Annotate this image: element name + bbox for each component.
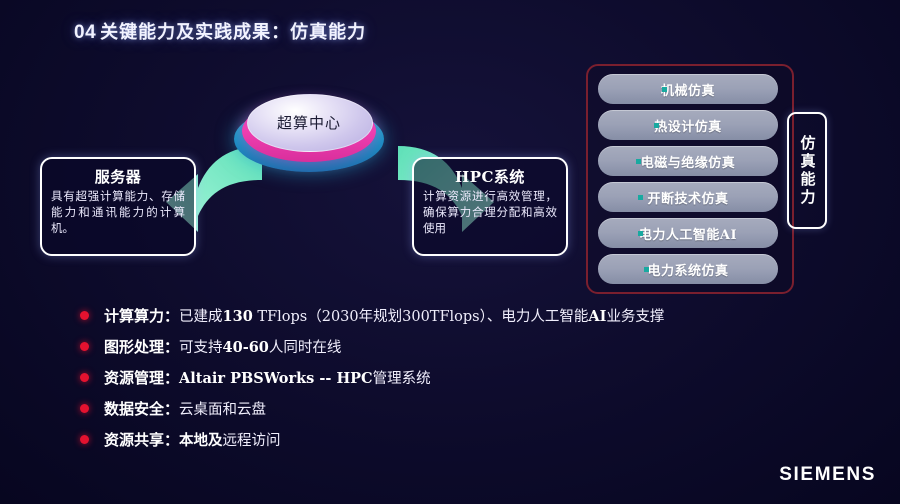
supercomputing-center-disc: 超算中心 <box>234 92 384 178</box>
siemens-logo: SIEMENS <box>779 464 876 486</box>
slide-canvas: 04关键能力及实践成果：仿真能力 超算中心 服务器 具有超强计算能力、存储能力和… <box>0 0 900 504</box>
simulation-capability-label-box: 仿真能力 <box>787 112 827 229</box>
key-point-text: 资源共享：本地及远程访问 <box>104 429 281 450</box>
key-point-label: 资源管理： <box>104 369 179 387</box>
key-point-row: 资源管理：Altair PBSWorks -- HPC管理系统 <box>80 362 840 393</box>
key-point-row: 数据安全：云桌面和云盘 <box>80 393 840 424</box>
key-point-row: 计算算力：已建成130 TFlops（2030年规划300TFlops）、电力人… <box>80 300 840 331</box>
key-point-segment: 130 <box>223 308 253 325</box>
key-point-segment: 业务支撑 <box>606 309 664 325</box>
capability-pill-label: 开断技术仿真 <box>647 188 728 207</box>
bullet-dot-icon <box>80 435 89 444</box>
key-point-segment: AI <box>588 308 606 325</box>
key-points-list: 计算算力：已建成130 TFlops（2030年规划300TFlops）、电力人… <box>80 300 840 455</box>
key-point-label: 图形处理： <box>104 338 179 356</box>
key-point-label: 计算算力： <box>104 307 179 325</box>
capability-pill[interactable]: 电力人工智能AI <box>598 218 778 248</box>
key-point-segment: 已建成 <box>179 309 223 325</box>
key-point-segment: 本地及 <box>179 432 223 449</box>
capability-pill-label: 电力人工智能AI <box>639 224 737 243</box>
disc-label: 超算中心 <box>247 94 371 150</box>
hpc-box-title: HPC系统 <box>414 166 566 187</box>
capability-pill-list: 机械仿真热设计仿真电磁与绝缘仿真开断技术仿真电力人工智能AI电力系统仿真 <box>598 74 778 290</box>
key-point-label: 资源共享： <box>104 431 179 449</box>
key-point-segment: 40-60 <box>223 339 269 356</box>
key-point-row: 资源共享：本地及远程访问 <box>80 424 840 455</box>
hpc-info-box: HPC系统 计算资源进行高效管理，确保算力合理分配和高效使用 <box>412 157 568 256</box>
key-point-segment: 管理系统 <box>373 371 431 387</box>
key-point-text: 图形处理：可支持40-60人同时在线 <box>104 336 341 357</box>
server-info-box: 服务器 具有超强计算能力、存储能力和通讯能力的计算机。 <box>40 157 196 256</box>
page-title-text: 关键能力及实践成果：仿真能力 <box>100 22 366 43</box>
capability-pill[interactable]: 机械仿真 <box>598 74 778 104</box>
key-point-row: 图形处理：可支持40-60人同时在线 <box>80 331 840 362</box>
page-title-number: 04 <box>74 22 96 43</box>
capability-pill-label: 热设计仿真 <box>654 116 722 135</box>
key-point-segment: 可支持 <box>179 340 223 356</box>
hpc-box-body: 计算资源进行高效管理，确保算力合理分配和高效使用 <box>414 189 566 237</box>
pill-bullet-icon <box>638 195 643 200</box>
capability-pill-label: 机械仿真 <box>661 80 715 99</box>
bullet-dot-icon <box>80 404 89 413</box>
page-title: 04关键能力及实践成果：仿真能力 <box>74 18 366 44</box>
key-point-segment: Altair PBSWorks -- HPC <box>179 370 373 387</box>
key-point-segment: TFlops（2030年规划300TFlops）、电力人工智能 <box>253 309 589 325</box>
capability-pill[interactable]: 电磁与绝缘仿真 <box>598 146 778 176</box>
key-point-label: 数据安全： <box>104 400 179 418</box>
key-point-text: 数据安全：云桌面和云盘 <box>104 398 266 419</box>
key-point-segment: 远程访问 <box>223 433 281 449</box>
pill-bullet-icon <box>636 159 641 164</box>
key-point-text: 计算算力：已建成130 TFlops（2030年规划300TFlops）、电力人… <box>104 305 664 326</box>
key-point-segment: 云桌面和云盘 <box>179 402 266 418</box>
capability-pill-label: 电磁与绝缘仿真 <box>641 152 736 171</box>
capability-pill[interactable]: 热设计仿真 <box>598 110 778 140</box>
key-point-text: 资源管理：Altair PBSWorks -- HPC管理系统 <box>104 367 431 388</box>
capability-pill[interactable]: 电力系统仿真 <box>598 254 778 284</box>
bullet-dot-icon <box>80 311 89 320</box>
key-point-segment: 人同时在线 <box>269 340 342 356</box>
pill-bullet-icon <box>654 123 659 128</box>
pill-bullet-icon <box>638 231 643 236</box>
pill-bullet-icon <box>644 267 649 272</box>
capability-pill[interactable]: 开断技术仿真 <box>598 182 778 212</box>
pill-bullet-icon <box>662 87 667 92</box>
server-box-body: 具有超强计算能力、存储能力和通讯能力的计算机。 <box>42 189 194 237</box>
capability-pill-label: 电力系统仿真 <box>647 260 728 279</box>
bullet-dot-icon <box>80 342 89 351</box>
server-box-title: 服务器 <box>42 166 194 187</box>
bullet-dot-icon <box>80 373 89 382</box>
simulation-capability-label: 仿真能力 <box>800 135 815 207</box>
